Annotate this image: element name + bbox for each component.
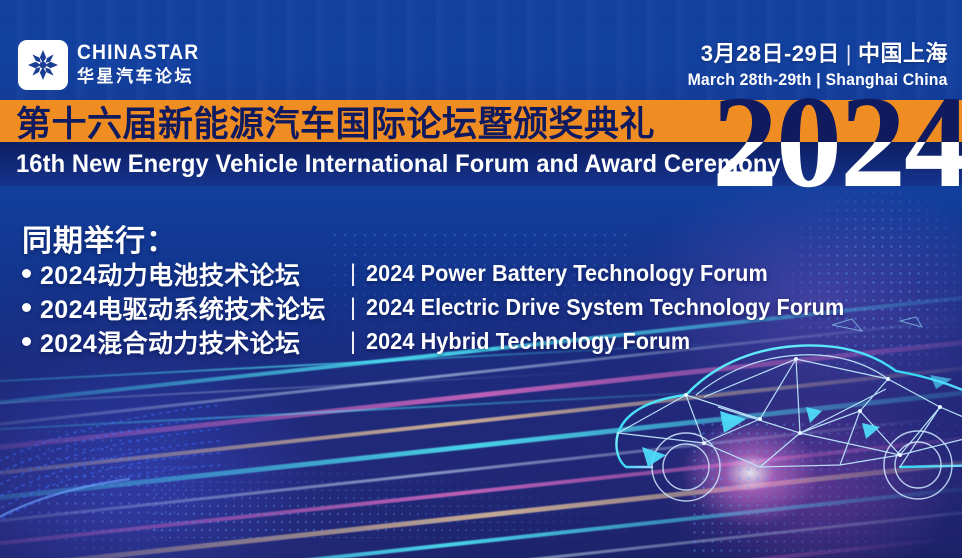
forum-name-cn: 2024电驱动系统技术论坛 <box>40 290 340 326</box>
bullet-icon <box>22 269 31 278</box>
event-title-en: 16th New Energy Vehicle International Fo… <box>16 143 781 185</box>
forum-name-en: 2024 Electric Drive System Technology Fo… <box>366 294 844 321</box>
forum-name-cn: 2024动力电池技术论坛 <box>40 256 340 292</box>
event-title-cn: 第十六届新能源汽车国际论坛暨颁奖典礼 <box>16 99 655 143</box>
forum-separator: | <box>340 328 366 356</box>
forum-separator: | <box>340 260 366 288</box>
star-burst-icon <box>18 40 68 90</box>
swirl-arcs <box>0 395 340 558</box>
concurrent-forum-list: 2024动力电池技术论坛 | 2024 Power Battery Techno… <box>22 258 875 360</box>
event-year: 2024 2024 <box>712 86 962 198</box>
brand-name-en: CHINASTAR <box>77 42 199 63</box>
brand-name-cn: 华星汽车论坛 <box>77 66 210 87</box>
bullet-icon <box>22 337 31 346</box>
event-banner: CHINASTAR 华星汽车论坛 3月28日-29日|中国上海 March 28… <box>0 0 962 558</box>
forum-name-en: 2024 Power Battery Technology Forum <box>366 260 768 287</box>
bullet-icon <box>22 303 31 312</box>
list-item[interactable]: 2024混合动力技术论坛 | 2024 Hybrid Technology Fo… <box>22 326 875 357</box>
forum-name-cn: 2024混合动力技术论坛 <box>40 324 340 360</box>
event-date-cn: 3月28日-29日 <box>701 41 840 66</box>
date-separator-cn: | <box>840 41 858 66</box>
forum-separator: | <box>340 294 366 322</box>
event-date-location: 3月28日-29日|中国上海 March 28th-29th|Shanghai … <box>668 40 948 91</box>
list-item[interactable]: 2024电驱动系统技术论坛 | 2024 Electric Drive Syst… <box>22 292 875 323</box>
list-item[interactable]: 2024动力电池技术论坛 | 2024 Power Battery Techno… <box>22 258 875 289</box>
brand-logo[interactable]: CHINASTAR 华星汽车论坛 <box>18 40 210 90</box>
concurrent-heading: 同期举行： <box>22 216 177 260</box>
event-location-cn: 中国上海 <box>858 41 948 66</box>
forum-name-en: 2024 Hybrid Technology Forum <box>366 328 690 355</box>
